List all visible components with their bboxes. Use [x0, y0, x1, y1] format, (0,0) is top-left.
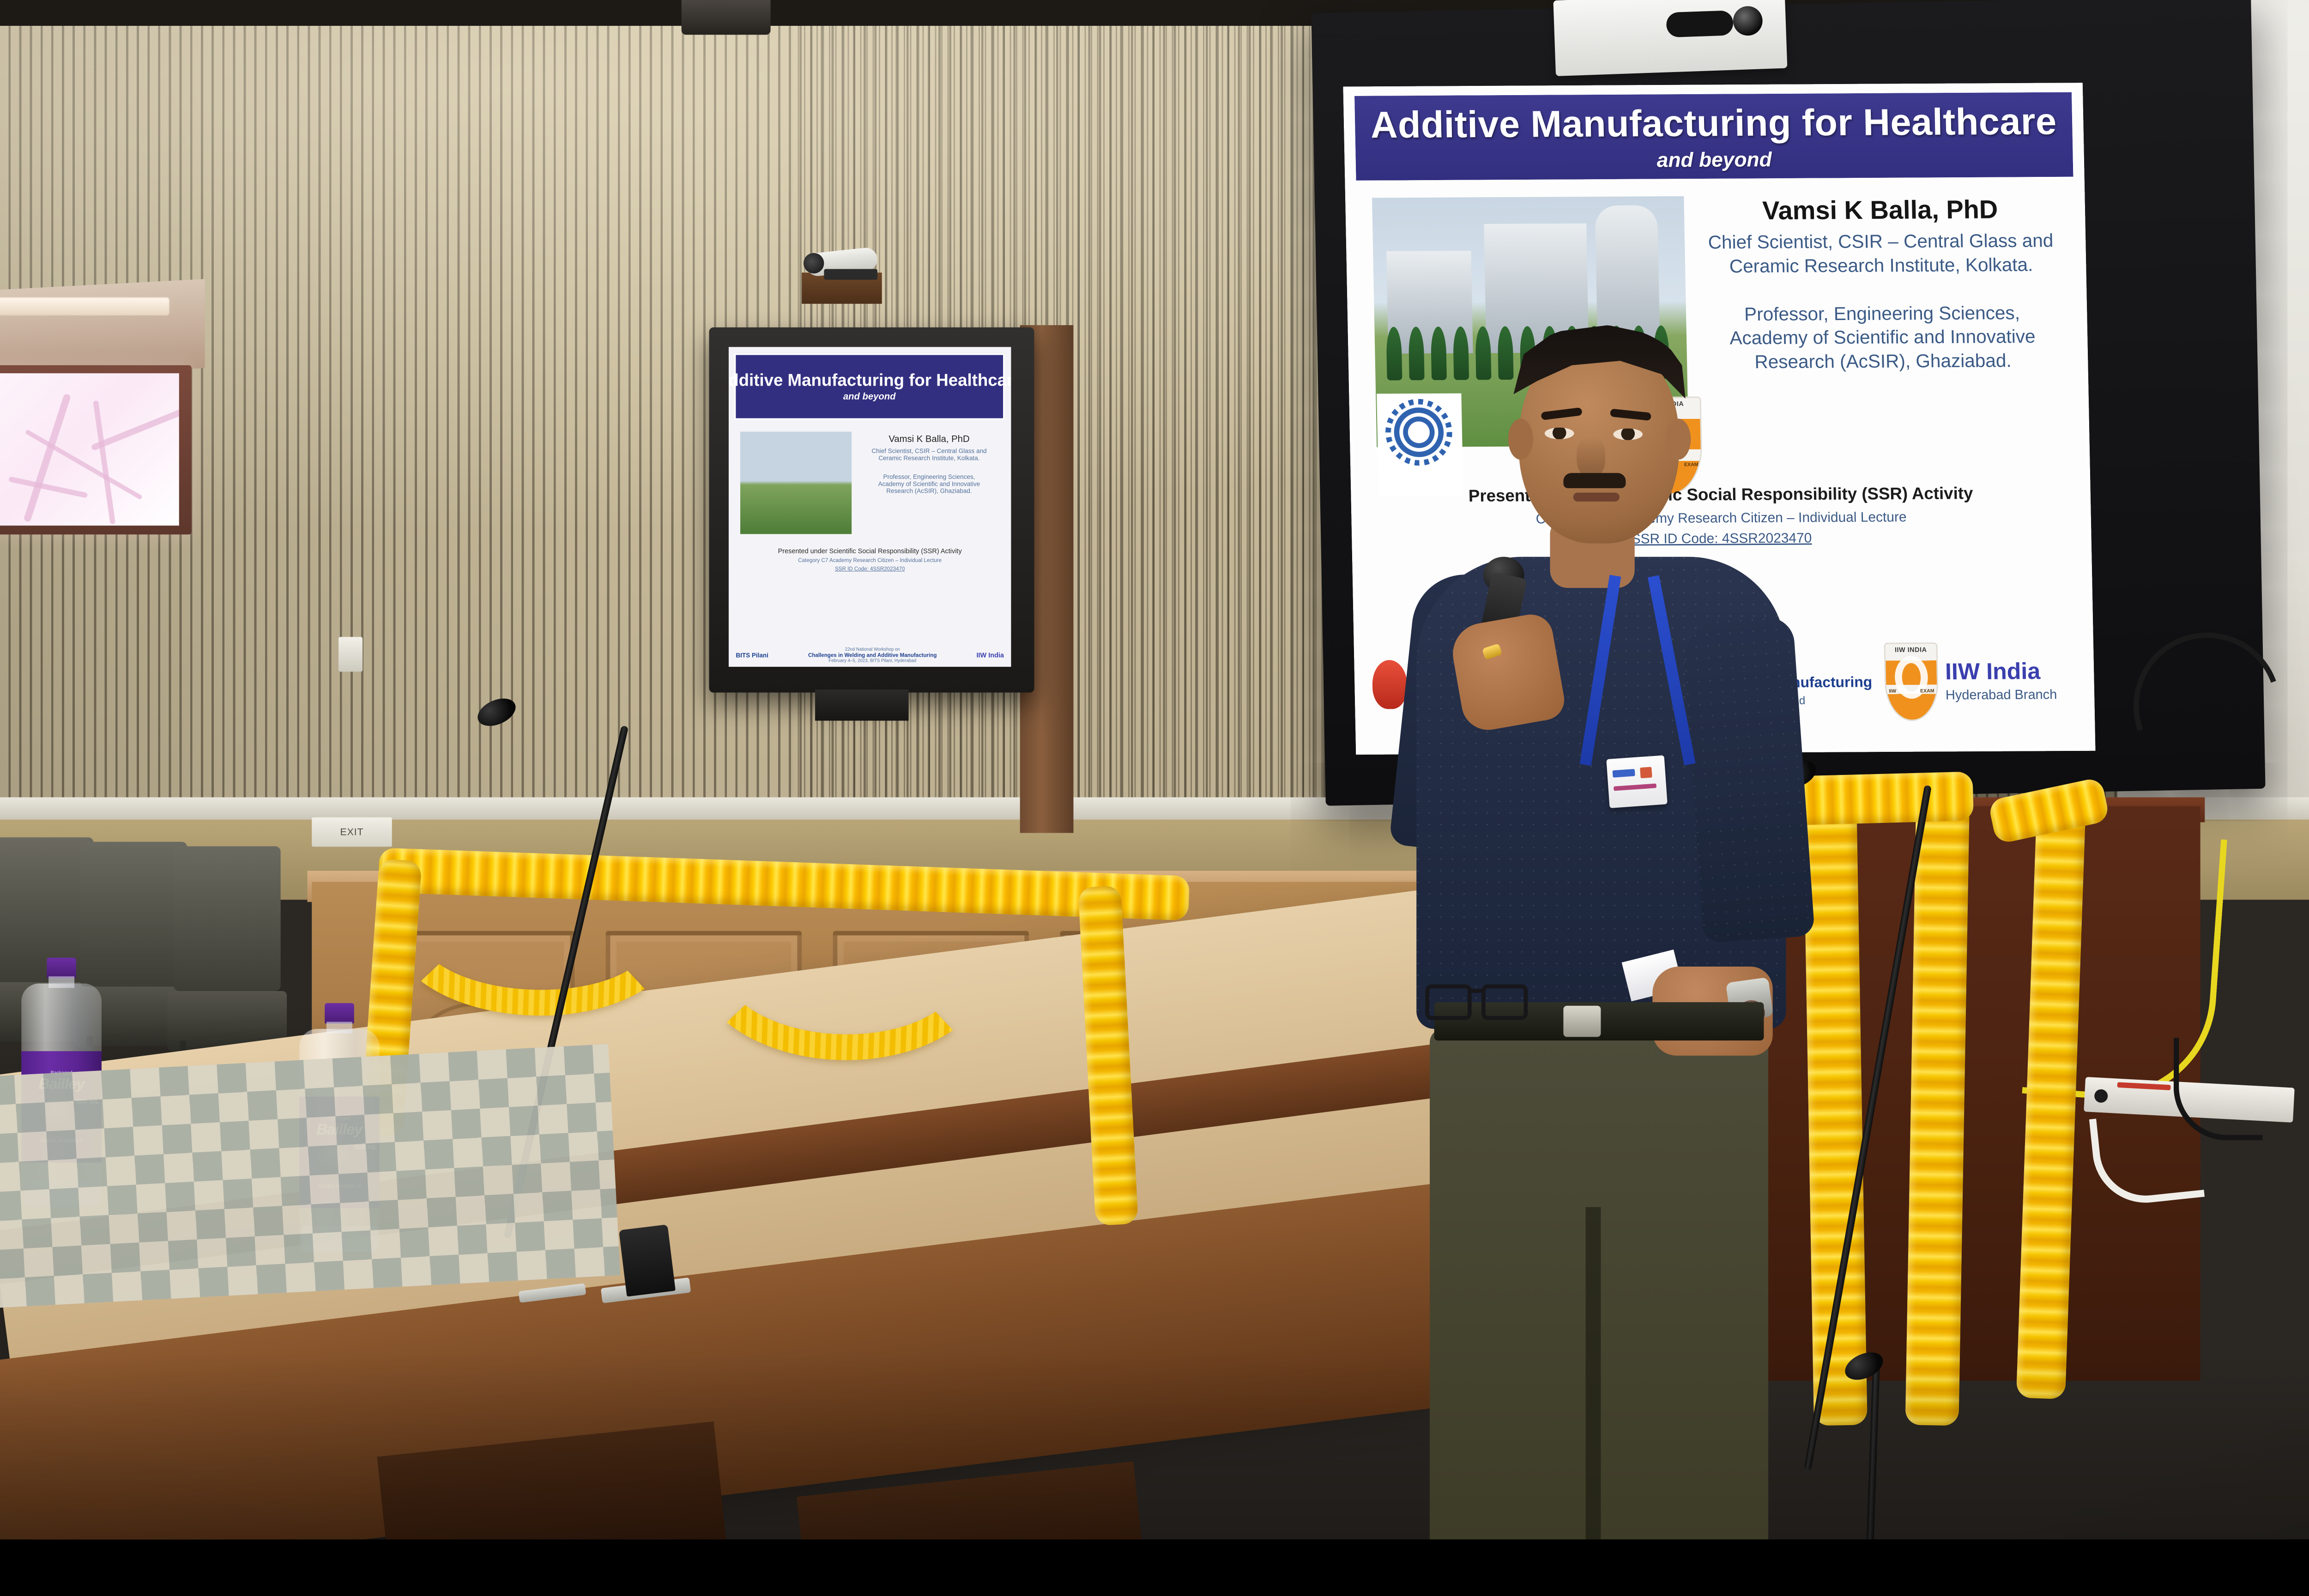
tube-light [0, 297, 169, 315]
mini-speaker-name: Vamsi K Balla, PhD [862, 434, 996, 444]
mini-footer-l3: February 4–5, 2023, BITS Pilani, Hyderab… [808, 659, 937, 664]
iiw-shield-logo-icon: IIW INDIA IIW EXAM [1884, 642, 1939, 721]
footer-right-org-sub: Hyderabad Branch [1946, 687, 2057, 703]
secondary-monitor-screen: Additive Manufacturing for Healthcare an… [729, 347, 1011, 667]
mini-ssr-3: SSR ID Code: 4SSR2023470 [747, 566, 993, 572]
slide-title-band: Additive Manufacturing for Healthcare an… [1352, 90, 2075, 183]
mini-ssr-1: Presented under Scientific Social Respon… [747, 547, 993, 555]
light-switch-plate[interactable] [338, 637, 363, 671]
bottle-cap [325, 1003, 354, 1023]
slide-footer-right-org: IIW INDIA IIW EXAM IIW India Hyderabad B… [1884, 642, 2077, 721]
speaker-eye-left [1545, 428, 1574, 439]
mini-aff-3: Professor, Engineering Sciences, [862, 473, 996, 480]
mini-aff-2: Ceramic Research Institute, Kolkata. [862, 454, 996, 461]
secondary-monitor[interactable]: Additive Manufacturing for Healthcare an… [709, 327, 1034, 693]
speaker-moustache [1563, 473, 1626, 488]
mini-footer-l2: Challenges in Welding and Additive Manuf… [808, 652, 937, 659]
slide-affiliation-2: Ceramic Research Institute, Kolkata. [1699, 253, 2064, 278]
mini-slide-photo [740, 432, 852, 534]
speaker-leg-seam [1586, 1207, 1601, 1540]
mini-ssr-2: Category C7 Academy Research Citizen – I… [747, 557, 993, 564]
left-wall-screen[interactable] [0, 365, 192, 535]
video-conference-camera-icon[interactable] [1553, 0, 1787, 76]
mini-footer-left: BITS Pilani [736, 652, 768, 659]
speaker-ear-right [1666, 419, 1691, 460]
foreground-microphone-stem [1866, 1363, 1880, 1539]
iiw-logo-label: IIW INDIA [1886, 646, 1936, 654]
speaker-nose [1577, 436, 1605, 477]
left-wall-screen-content [0, 373, 179, 526]
speaker-left-hand [1448, 611, 1568, 734]
floor-tiles [0, 1044, 620, 1308]
cctv-camera-icon [797, 248, 895, 279]
photograph-scene: EXIT Additive Manufacturing for Healthca… [0, 0, 2309, 1539]
speaker-ear-left [1508, 419, 1533, 460]
mini-footer-l1: 22nd National Workshop on [808, 647, 937, 652]
belt-buckle [1563, 1006, 1601, 1037]
mini-slide-subtitle: and beyond [843, 392, 896, 402]
eyeglasses-icon [1425, 975, 1528, 1029]
mini-footer-right: IIW India [976, 652, 1003, 659]
id-badge [1606, 755, 1667, 808]
bits-pilani-logo-icon [1372, 660, 1408, 709]
slide-subtitle: and beyond [1656, 147, 1772, 171]
iiw-logo-foot-left: IIW [1889, 689, 1896, 694]
slide-affiliation-1: Chief Scientist, CSIR – Central Glass an… [1698, 229, 2064, 254]
footer-right-org-name: IIW India [1945, 659, 2057, 683]
mini-aff-1: Chief Scientist, CSIR – Central Glass an… [862, 447, 996, 454]
camera-lens-icon [1733, 6, 1763, 36]
table-microphone-base[interactable] [619, 1224, 676, 1297]
mini-aff-5: Research (AcSIR), Ghaziabad. [862, 487, 996, 494]
iiw-logo-foot-right: EXAM [1920, 689, 1934, 694]
slide-title: Additive Manufacturing for Healthcare [1370, 100, 2057, 146]
bottle-cap [47, 958, 76, 978]
speaker-right-arm [1681, 616, 1815, 943]
mini-slide-title: Additive Manufacturing for Healthcare [729, 371, 1011, 390]
secondary-monitor-stand [815, 689, 909, 721]
speaker-mouth [1573, 493, 1620, 502]
speaker-eye-right [1613, 429, 1643, 440]
speaker-person [1416, 308, 1786, 1421]
power-switch-icon[interactable] [2094, 1089, 2108, 1103]
exit-notice: EXIT [312, 817, 392, 847]
ceiling-speaker [682, 0, 771, 35]
mini-aff-4: Academy of Scientific and Innovative [862, 480, 996, 487]
slide-speaker-name: Vamsi K Balla, PhD [1697, 194, 2063, 226]
